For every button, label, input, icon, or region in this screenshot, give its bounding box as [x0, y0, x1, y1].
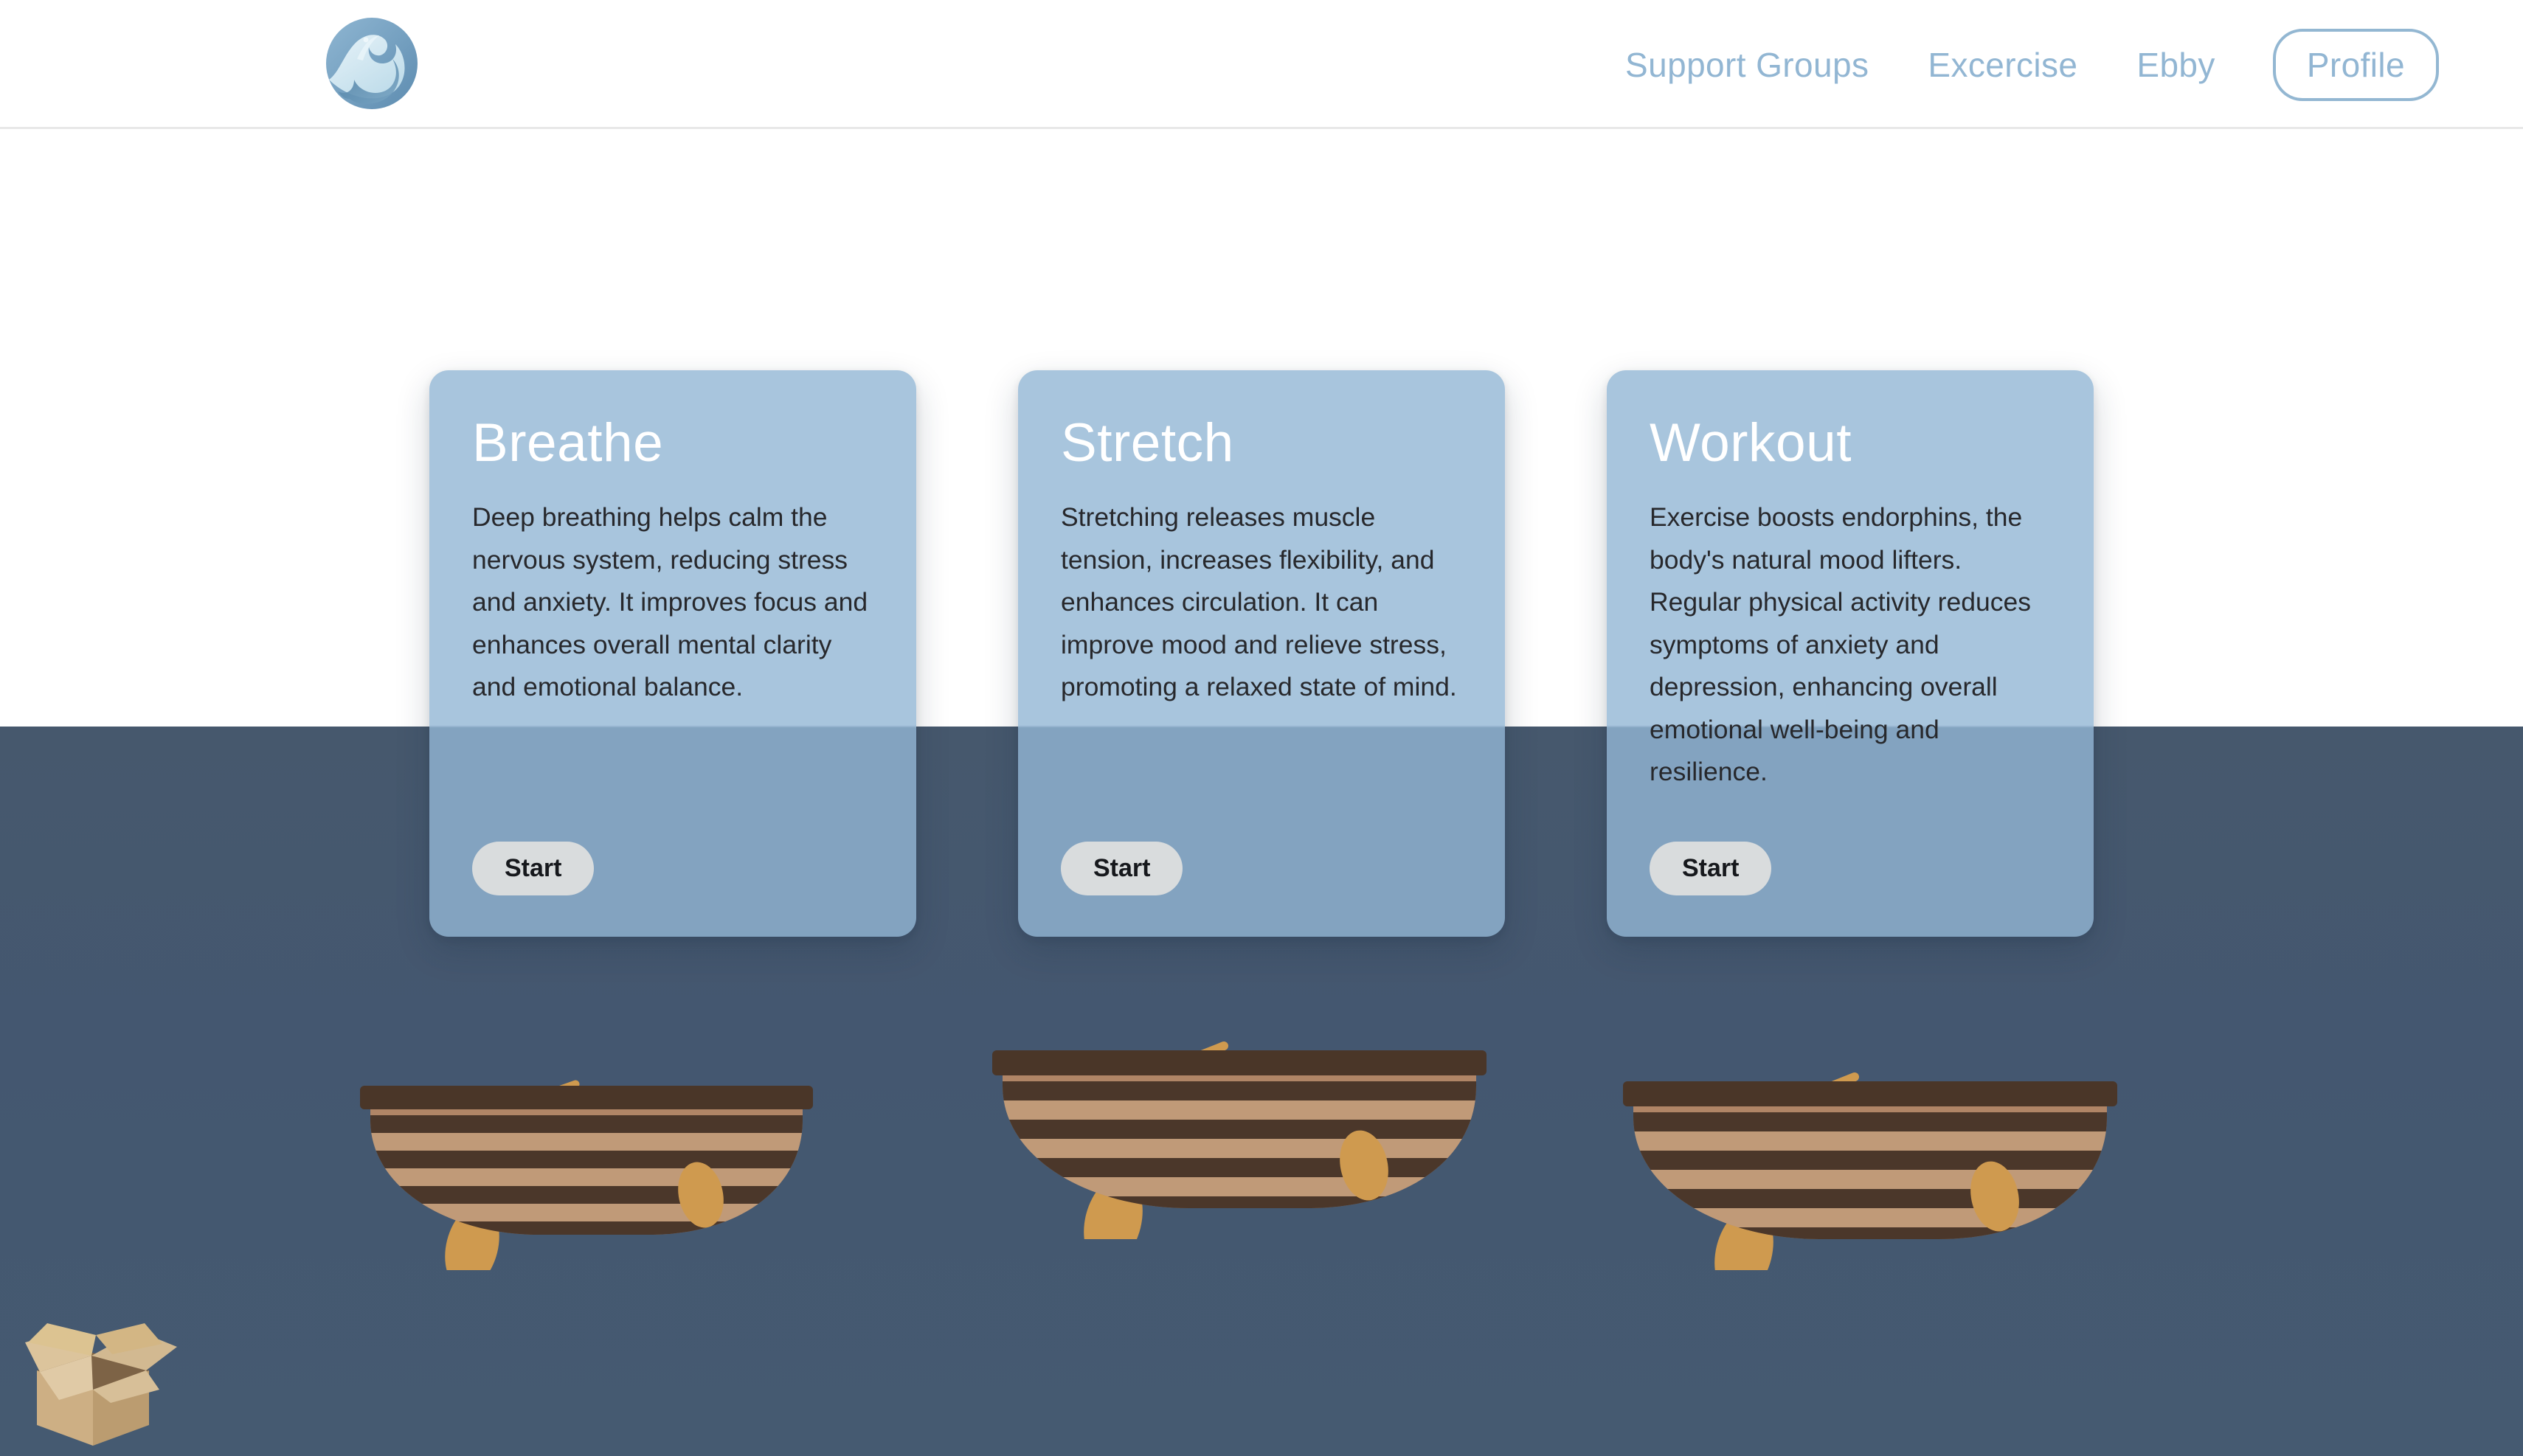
- activity-card-list: Breathe Deep breathing helps calm the ne…: [0, 370, 2523, 938]
- rowboat-right: [1616, 1049, 2125, 1270]
- card-description: Exercise boosts endorphins, the body's n…: [1650, 496, 2051, 794]
- nav-support-groups[interactable]: Support Groups: [1596, 48, 1898, 82]
- wave-logo[interactable]: [325, 16, 419, 111]
- activity-card-stretch[interactable]: Stretch Stretching releases muscle tensi…: [1018, 370, 1505, 937]
- site-header: Support Groups Excercise Ebby Profile: [0, 0, 2523, 129]
- rowboat-left: [354, 1056, 819, 1270]
- nav-profile[interactable]: Profile: [2273, 29, 2439, 101]
- activity-card-workout[interactable]: Workout Exercise boosts endorphins, the …: [1607, 370, 2094, 937]
- card-title: Breathe: [472, 416, 873, 470]
- nav-excercise[interactable]: Excercise: [1898, 48, 2107, 82]
- card-description: Stretching releases muscle tension, incr…: [1061, 496, 1462, 709]
- card-title: Workout: [1650, 416, 2051, 470]
- nav-ebby[interactable]: Ebby: [2107, 48, 2244, 82]
- main-navigation: Support Groups Excercise Ebby Profile: [1596, 0, 2439, 129]
- open-cardboard-box-icon: [15, 1313, 184, 1446]
- start-button-stretch[interactable]: Start: [1061, 842, 1183, 895]
- start-button-workout[interactable]: Start: [1650, 842, 1771, 895]
- app-page: Support Groups Excercise Ebby Profile: [0, 0, 2523, 1456]
- card-description: Deep breathing helps calm the nervous sy…: [472, 496, 873, 709]
- activity-card-breathe[interactable]: Breathe Deep breathing helps calm the ne…: [429, 370, 916, 937]
- start-button-breathe[interactable]: Start: [472, 842, 594, 895]
- card-title: Stretch: [1061, 416, 1462, 470]
- rowboat-center: [985, 1018, 1494, 1239]
